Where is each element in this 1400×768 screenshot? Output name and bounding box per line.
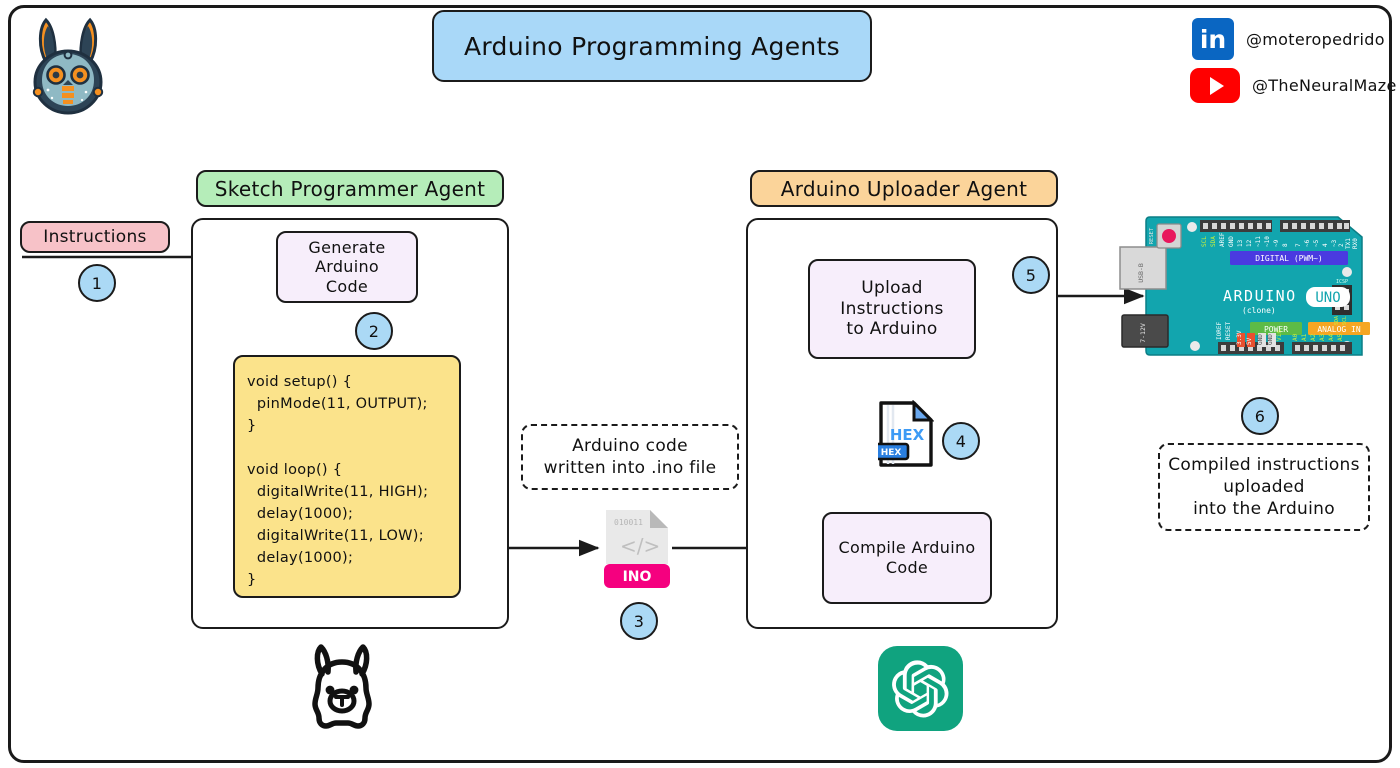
svg-text:~11: ~11 (1255, 236, 1262, 247)
board-power-label: 7-12V (1139, 323, 1147, 343)
ino-note: Arduino code written into .ino file (521, 424, 739, 490)
svg-text:A0: A0 (1292, 333, 1299, 341)
board-brand: ARDUINO (1223, 287, 1297, 305)
svg-text:8: 8 (1282, 243, 1289, 247)
svg-text:2: 2 (1338, 243, 1345, 247)
step-marker-3: 3 (620, 602, 658, 640)
svg-text:SDA: SDA (1334, 316, 1340, 325)
svg-text:GND: GND (1228, 236, 1235, 247)
instructions-box: Instructions (20, 221, 170, 253)
ino-code-glyph: </> (620, 534, 660, 558)
hex-file-title: HEX (890, 426, 925, 444)
board-analog-banner: ANALOG IN (1317, 325, 1361, 334)
svg-text:AREF: AREF (1219, 232, 1226, 247)
social-youtube[interactable]: @TheNeuralMaze (1190, 68, 1397, 103)
hex-file-tag: HEX (881, 448, 902, 458)
svg-text:~9: ~9 (1273, 239, 1280, 247)
step-marker-1: 1 (78, 264, 116, 302)
svg-text:3.3V: 3.3V (1236, 330, 1243, 345)
svg-text:7: 7 (1295, 243, 1302, 247)
youtube-icon (1190, 68, 1240, 103)
svg-text:GND: GND (1267, 334, 1274, 345)
board-usb-label: USB-B (1137, 263, 1145, 283)
linkedin-icon: in (1192, 18, 1234, 60)
ino-file-icon: 010011 </> INO (604, 508, 670, 588)
linkedin-handle: @moteropedrido (1246, 30, 1385, 49)
hex-file-icon: HEX HEX (878, 400, 934, 468)
svg-text:A5: A5 (1337, 333, 1344, 341)
svg-text:GND: GND (1257, 334, 1264, 345)
compile-arduino-code-node: Compile Arduino Code (822, 512, 992, 604)
step-marker-4: 4 (942, 422, 980, 460)
step-marker-2: 2 (355, 312, 393, 350)
svg-text:A2: A2 (1310, 333, 1317, 341)
social-linkedin[interactable]: in @moteropedrido (1192, 18, 1385, 60)
svg-text:SCL: SCL (1342, 316, 1348, 325)
svg-text:4: 4 (1322, 243, 1329, 247)
svg-text:IOREF: IOREF (1216, 322, 1223, 340)
svg-text:SDA: SDA (1210, 236, 1217, 247)
step-marker-6: 6 (1241, 397, 1279, 435)
svg-text:5V: 5V (1246, 337, 1253, 345)
svg-text:RESET: RESET (1225, 322, 1232, 340)
page-title: Arduino Programming Agents (432, 10, 872, 82)
svg-text:Vin: Vin (1276, 330, 1283, 341)
svg-text:~6: ~6 (1304, 239, 1311, 247)
result-note: Compiled instructions uploaded into the … (1158, 443, 1370, 531)
svg-text:A4: A4 (1328, 333, 1335, 341)
openai-logo (878, 646, 963, 731)
ino-binary-text: 010011 (614, 518, 643, 527)
youtube-handle: @TheNeuralMaze (1252, 76, 1397, 95)
upload-instructions-node: Upload Instructions to Arduino (808, 259, 976, 359)
svg-text:RX0: RX0 (1352, 238, 1359, 249)
arduino-code-block: void setup() { pinMode(11, OUTPUT); } vo… (233, 355, 461, 598)
board-digital-banner: DIGITAL (PWM~) (1255, 254, 1322, 263)
step-marker-5: 5 (1012, 256, 1050, 294)
robot-rabbit-logo (22, 14, 114, 118)
svg-text:~3: ~3 (1331, 239, 1338, 247)
svg-text:12: 12 (1246, 239, 1253, 247)
ino-file-label: INO (623, 569, 652, 585)
board-reset-label: RESET (1149, 227, 1155, 244)
ollama-logo (300, 640, 384, 732)
svg-text:A1: A1 (1301, 333, 1308, 341)
arduino-uploader-agent-title: Arduino Uploader Agent (750, 170, 1058, 207)
board-icsp-label: ICSP (1336, 279, 1348, 285)
board-variant: (clone) (1242, 306, 1276, 315)
board-model: UNO (1315, 290, 1340, 306)
svg-text:TX1: TX1 (1345, 238, 1352, 249)
svg-text:A3: A3 (1319, 333, 1326, 341)
svg-text:13: 13 (1237, 239, 1244, 247)
arduino-uno-board-image: USB-B 7-12V RESET DIGITAL (PWM~) (1110, 205, 1375, 380)
svg-text:~10: ~10 (1264, 236, 1271, 247)
svg-text:SCL: SCL (1201, 236, 1208, 247)
svg-text:~5: ~5 (1313, 239, 1320, 247)
sketch-programmer-agent-title: Sketch Programmer Agent (196, 170, 504, 207)
generate-arduino-code-node: Generate Arduino Code (276, 231, 418, 303)
